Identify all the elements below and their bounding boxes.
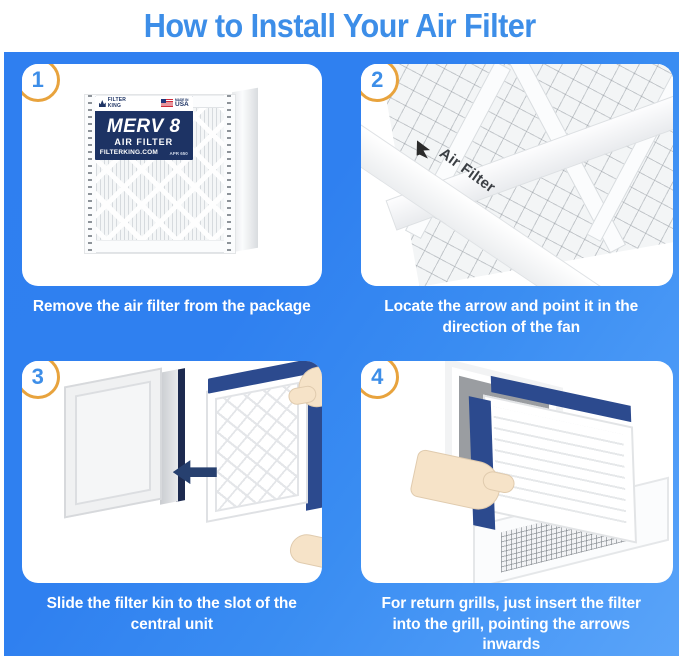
step-4-caption: For return grills, just insert the filte… [366, 594, 656, 656]
filter-diamond-mesh [215, 382, 299, 512]
step-3-number: 3 [32, 366, 44, 388]
country-name: USA [175, 101, 189, 108]
label-header-strip: FILTER KING MADE IN USA [95, 96, 193, 111]
step-1-image-card: 1 [22, 64, 322, 286]
made-in-usa-mark: MADE IN USA [161, 99, 189, 109]
step-2-illustration: Air Filter [361, 64, 673, 286]
step-card-2: 2 Air Filter Locate the arrow and point … [344, 52, 679, 349]
apr-rating: APR 650 [169, 151, 187, 156]
step-card-3: 3 [4, 349, 340, 656]
country-text: MADE IN USA [175, 99, 189, 109]
grill-louvers [494, 407, 627, 532]
filter-frame-bottom [85, 240, 235, 253]
hand-lower [287, 531, 321, 573]
label-footer: FILTERKING.COM APR 650 [100, 149, 188, 156]
unit-inner-panel [75, 381, 151, 506]
product-label: FILTER KING MADE IN USA [95, 96, 193, 160]
unit-side-edge [160, 369, 178, 504]
step-card-1: 1 [4, 52, 340, 349]
air-filter-box: FILTER KING MADE IN USA [82, 84, 264, 260]
step-2-number: 2 [371, 69, 383, 91]
us-flag-icon [161, 99, 173, 107]
step-4-image-card: 4 [361, 361, 673, 583]
label-subtitle: AIR FILTER [95, 137, 193, 147]
step-3-caption: Slide the filter kin to the slot of the … [27, 594, 317, 635]
step-1-number: 1 [32, 69, 44, 91]
step-4-illustration [361, 361, 673, 583]
step-1-caption: Remove the air filter from the package [27, 297, 317, 318]
poster-header: How to Install Your Air Filter [0, 0, 679, 52]
filter-king-logo: FILTER KING [99, 98, 126, 109]
filter-frame-right [224, 95, 235, 253]
page-title: How to Install Your Air Filter [144, 7, 536, 45]
step-card-4: 4 [344, 349, 679, 656]
step-1-illustration: FILTER KING MADE IN USA [22, 64, 322, 286]
return-grill-assembly [407, 373, 657, 573]
merv-rating: MERV 8 [95, 116, 193, 138]
brand-line-2: KING [108, 104, 126, 109]
unit-front-face [64, 368, 162, 519]
step-2-image-card: 2 Air Filter [361, 64, 673, 286]
step-4-number: 4 [371, 366, 383, 388]
step-2-caption: Locate the arrow and point it in the dir… [366, 297, 656, 338]
brand-name: FILTER KING [108, 98, 126, 109]
step-3-image-card: 3 [22, 361, 322, 583]
infographic-poster: How to Install Your Air Filter 1 [0, 0, 679, 656]
website-url: FILTERKING.COM [100, 149, 158, 156]
crown-icon [99, 100, 106, 107]
central-unit-slot [64, 367, 184, 519]
steps-grid: 1 [4, 52, 679, 656]
step-3-illustration [22, 361, 322, 583]
